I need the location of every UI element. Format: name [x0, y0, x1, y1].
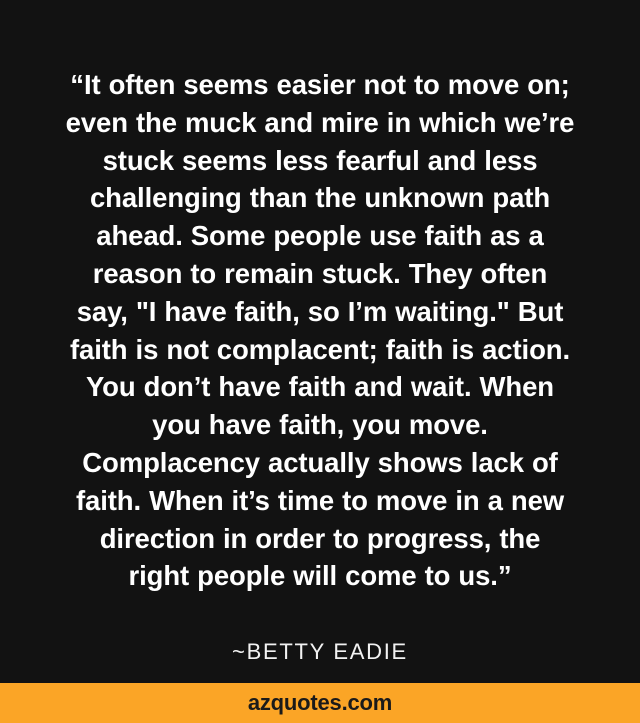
- quote-content-area: “It often seems easier not to move on; e…: [0, 0, 640, 683]
- site-watermark-label: azquotes.com: [248, 690, 392, 716]
- site-footer-bar: azquotes.com: [0, 683, 640, 723]
- quote-author-attribution: ~BETTY EADIE: [232, 639, 408, 665]
- quote-text: “It often seems easier not to move on; e…: [36, 66, 604, 595]
- quote-card: “It often seems easier not to move on; e…: [0, 0, 640, 723]
